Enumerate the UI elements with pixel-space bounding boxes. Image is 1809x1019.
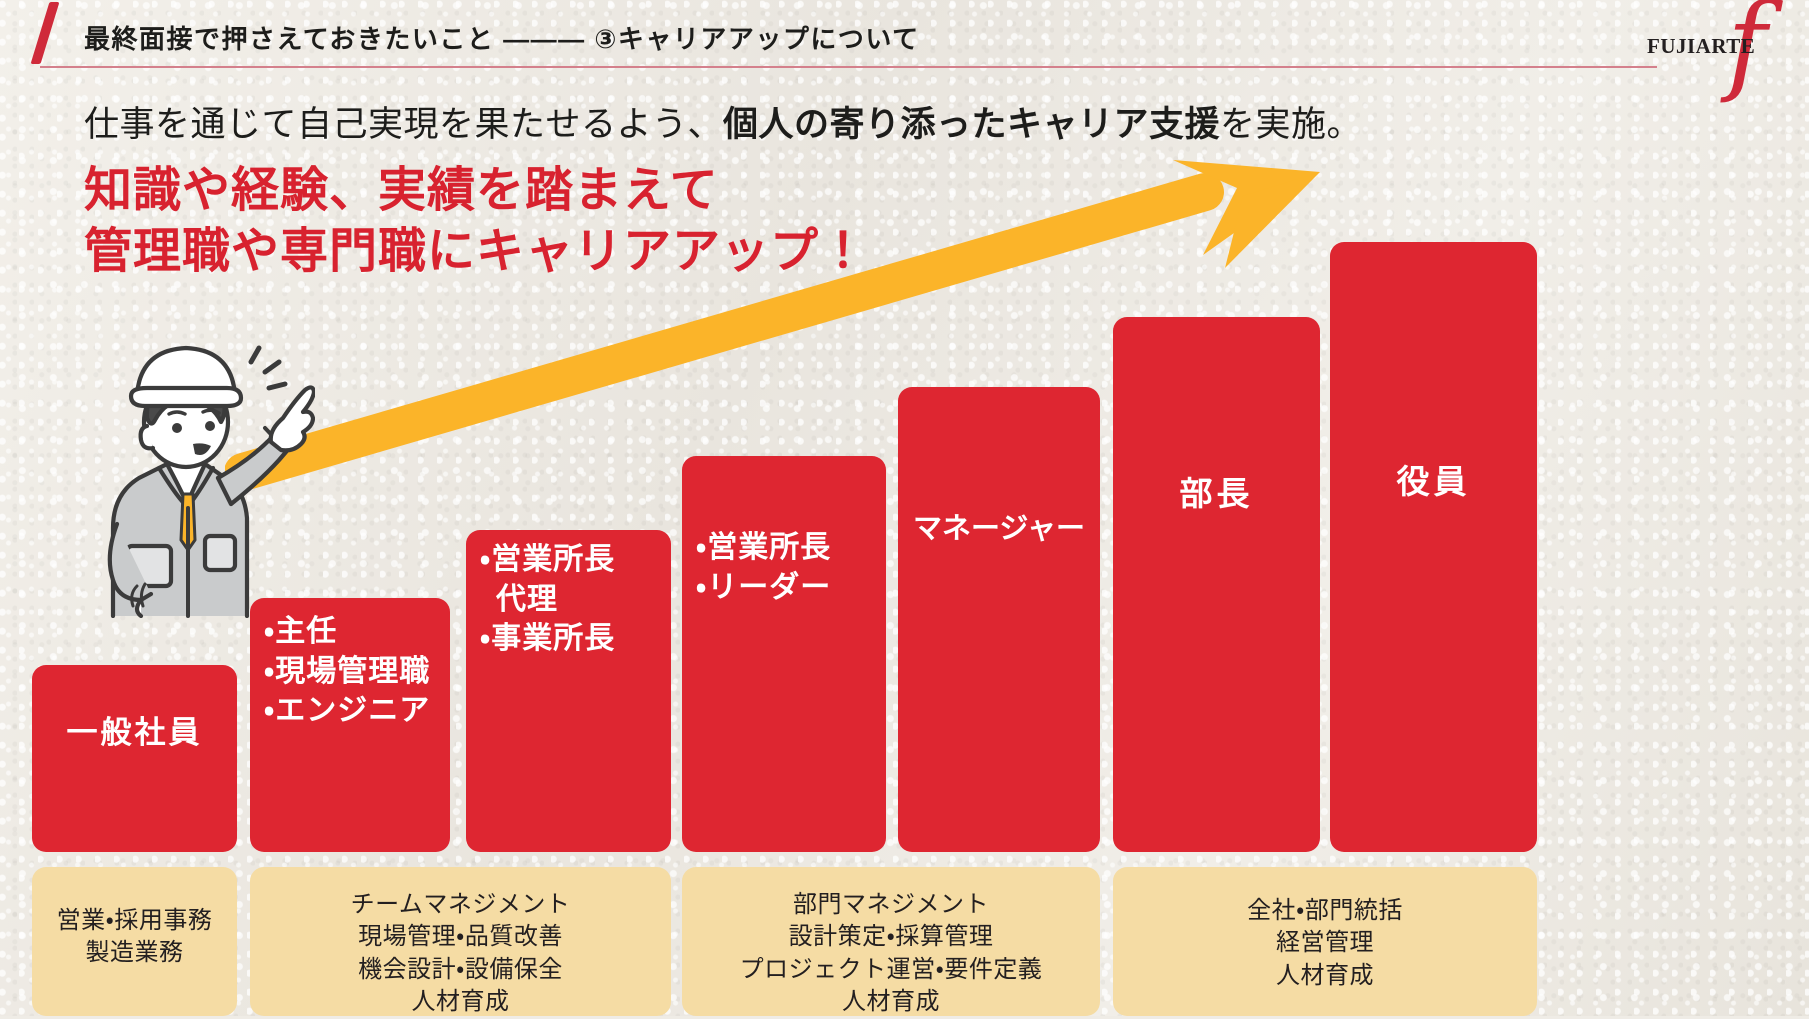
caption-2-line-2: 現場管理・品質改善 <box>250 921 671 953</box>
slide-header: 最終面接で押さえておきたいこと ——— ③キャリアアップについて f FUJIA… <box>0 0 1809 72</box>
bar-5-line-1: マネージャー <box>912 510 1086 548</box>
bar-4-label: ・営業所長 ・リーダー <box>682 528 886 607</box>
bar-7-line-1: 役員 <box>1344 460 1523 504</box>
bar-3-label: ・営業所長 代理 ・事業所長 <box>466 540 671 659</box>
caption-2-line-4: 人材育成 <box>250 986 671 1018</box>
caption-3-line-3: プロジェクト運営・要件定義 <box>682 954 1100 986</box>
bar-6-line-1: 部長 <box>1127 472 1306 516</box>
bar-3-line-3: ・事業所長 <box>480 619 657 659</box>
caption-4-line-3: 人材育成 <box>1113 960 1537 992</box>
header-divider <box>40 66 1657 68</box>
caption-2-line-1: チームマネジメント <box>250 889 671 921</box>
bar-3-line-1: ・営業所長 <box>480 540 657 580</box>
bar-7[interactable]: 役員 <box>1330 242 1537 852</box>
page-title: 最終面接で押さえておきたいこと ——— ③キャリアアップについて <box>84 19 920 56</box>
bar-3-line-2: 代理 <box>480 580 657 620</box>
bar-5-label: マネージャー <box>898 510 1100 548</box>
caption-3-line-1: 部門マネジメント <box>682 889 1100 921</box>
caption-1-line-2: 製造業務 <box>32 937 237 969</box>
pointing-worker-icon <box>55 318 315 618</box>
bar-2[interactable]: ・主任 ・現場管理職 ・エンジニア <box>250 598 450 852</box>
caption-4-line-2: 経営管理 <box>1113 927 1537 959</box>
bar-2-label: ・主任 ・現場管理職 ・エンジニア <box>250 612 450 731</box>
bar-7-label: 役員 <box>1330 460 1537 504</box>
bar-2-line-3: ・エンジニア <box>264 691 436 731</box>
bar-4-line-1: ・営業所長 <box>696 528 872 568</box>
caption-1-line-1: 営業・採用事務 <box>32 905 237 937</box>
bar-4-line-2: ・リーダー <box>696 568 872 608</box>
header-slash-accent <box>31 2 60 64</box>
slide-canvas: 最終面接で押さえておきたいこと ——— ③キャリアアップについて f FUJIA… <box>0 0 1809 1016</box>
caption-4-line-1: 全社・部門統括 <box>1113 895 1537 927</box>
bar-1-label: 一般社員 <box>32 713 237 754</box>
bar-1-line-1: 一般社員 <box>46 713 223 754</box>
bar-6-label: 部長 <box>1113 472 1320 516</box>
bar-5[interactable]: マネージャー <box>898 387 1100 852</box>
caption-3: 部門マネジメント 設計策定・採算管理 プロジェクト運営・要件定義 人材育成 <box>682 867 1100 1016</box>
bar-3[interactable]: ・営業所長 代理 ・事業所長 <box>466 530 671 852</box>
caption-3-line-2: 設計策定・採算管理 <box>682 921 1100 953</box>
bar-2-line-2: ・現場管理職 <box>264 652 436 692</box>
fujiarte-logo: f FUJIARTE <box>1641 4 1791 82</box>
lead-copy: 仕事を通じて自己実現を果たせるよう、個人の寄り添ったキャリア支援を実施。 <box>84 96 1362 147</box>
caption-1: 営業・採用事務 製造業務 <box>32 867 237 1016</box>
logo-wordmark: FUJIARTE <box>1647 34 1755 59</box>
caption-3-line-4: 人材育成 <box>682 986 1100 1018</box>
bar-1[interactable]: 一般社員 <box>32 665 237 852</box>
bar-2-line-1: ・主任 <box>264 612 436 652</box>
caption-4: 全社・部門統括 経営管理 人材育成 <box>1113 867 1537 1016</box>
bar-4[interactable]: ・営業所長 ・リーダー <box>682 456 886 852</box>
caption-2: チームマネジメント 現場管理・品質改善 機会設計・設備保全 人材育成 <box>250 867 671 1016</box>
caption-2-line-3: 機会設計・設備保全 <box>250 954 671 986</box>
lead-part-3: を実施。 <box>1220 105 1362 144</box>
lead-part-1: 仕事を通じて自己実現を果たせるよう、 <box>84 105 723 144</box>
bar-6[interactable]: 部長 <box>1113 317 1320 852</box>
lead-part-2-bold: 個人の寄り添ったキャリア支援 <box>723 105 1220 144</box>
